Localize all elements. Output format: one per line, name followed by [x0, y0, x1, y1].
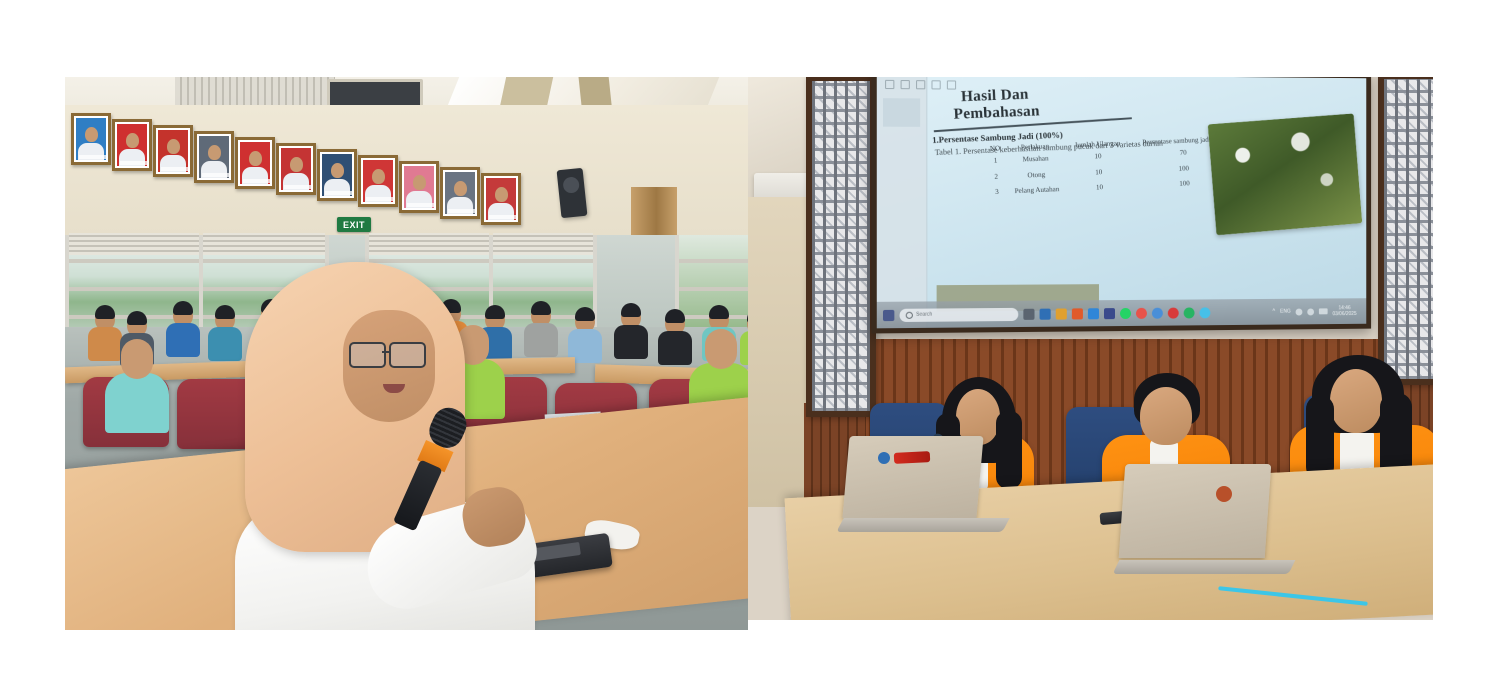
- portrait-nameplate: [79, 155, 107, 159]
- search-placeholder: Search: [916, 312, 932, 318]
- geometric-acoustic-panel: [1378, 77, 1433, 385]
- speaking-lecturer: [235, 252, 535, 630]
- audience-hair: [575, 307, 595, 321]
- portrait-nameplate: [489, 215, 517, 219]
- portrait-head: [208, 145, 221, 160]
- laptop-right[interactable]: [1116, 464, 1286, 574]
- framed-portrait: [440, 167, 480, 219]
- portrait-head: [126, 133, 139, 148]
- portrait-head: [413, 175, 426, 190]
- battery-icon[interactable]: [1319, 308, 1328, 314]
- table-body: 1Musahan10702Otong101003Pelang Autahan10…: [986, 144, 1238, 201]
- face: [1140, 387, 1192, 445]
- laptop-base: [1113, 560, 1296, 574]
- framed-portrait: [481, 173, 521, 225]
- network-icon[interactable]: [1307, 308, 1314, 315]
- framed-portrait: [235, 137, 275, 189]
- taskbar-app-icon[interactable]: [1056, 308, 1067, 319]
- language-indicator[interactable]: ENG: [1280, 309, 1291, 315]
- taskbar-app-icon[interactable]: [1120, 307, 1131, 318]
- taskbar-search-box[interactable]: Search: [900, 307, 1019, 321]
- audience-hair: [665, 309, 685, 323]
- portrait-nameplate: [161, 167, 189, 171]
- portrait-nameplate: [325, 191, 353, 195]
- framed-portrait: [358, 155, 398, 207]
- portrait-nameplate: [366, 197, 394, 201]
- portrait-gallery: [65, 111, 545, 201]
- portrait-photo: [404, 166, 434, 208]
- portrait-photo: [322, 154, 352, 196]
- laptop-left[interactable]: [840, 436, 1000, 532]
- toolbar-icon: [885, 79, 894, 88]
- geometric-acoustic-panel: [806, 77, 876, 417]
- portrait-head: [167, 139, 180, 154]
- taskbar-app-icon[interactable]: [1104, 308, 1115, 319]
- framed-portrait: [153, 125, 193, 177]
- portrait-nameplate: [243, 179, 271, 183]
- table-cell: 3: [988, 184, 1007, 200]
- laptop-lid: [842, 436, 983, 518]
- seminar-room-background: Hasil Dan Pembahasan 1.Persentase Sambun…: [748, 77, 1433, 620]
- photo-student-panel: Hasil Dan Pembahasan 1.Persentase Sambun…: [748, 77, 1433, 620]
- chevron-up-icon[interactable]: ^: [1272, 309, 1275, 315]
- taskbar-app-icon[interactable]: [1136, 307, 1147, 318]
- exit-sign-label: EXIT: [343, 220, 365, 230]
- portrait-photo: [445, 172, 475, 214]
- face: [1330, 369, 1382, 433]
- portrait-photo: [117, 124, 147, 166]
- portrait-nameplate: [407, 203, 435, 207]
- projection-screen: Hasil Dan Pembahasan 1.Persentase Sambun…: [872, 77, 1371, 333]
- portrait-head: [290, 157, 303, 172]
- toolbar-icon: [916, 80, 925, 89]
- portrait-head: [454, 181, 467, 196]
- taskbar-system-tray[interactable]: ^ ENG 14:46 03/06/2025: [1272, 305, 1360, 318]
- wall-speaker: [557, 168, 588, 218]
- portrait-nameplate: [202, 173, 230, 177]
- hair-strand: [1306, 395, 1334, 481]
- audience-body: [658, 331, 692, 365]
- portrait-photo: [240, 142, 270, 184]
- eyeglasses-icon: [349, 342, 429, 364]
- audience-body: [88, 327, 122, 361]
- table-cell: 10: [1068, 179, 1132, 197]
- powerpoint-thumbnail-pane: [877, 77, 928, 328]
- portrait-head: [85, 127, 98, 142]
- clock-date: 03/06/2025: [1332, 311, 1356, 317]
- audience-hair: [173, 301, 193, 315]
- portrait-photo: [76, 118, 106, 160]
- student-face: [705, 329, 737, 369]
- photo-lecture-hall: EXIT: [65, 77, 748, 630]
- slide-content: Hasil Dan Pembahasan 1.Persentase Sambun…: [926, 77, 1367, 303]
- student-face: [121, 339, 153, 379]
- taskbar-app-icon[interactable]: [1152, 307, 1163, 318]
- portrait-head: [495, 187, 508, 202]
- framed-portrait: [317, 149, 357, 201]
- audience-body: [166, 323, 200, 357]
- taskbar-app-icon[interactable]: [1023, 308, 1034, 319]
- audience-hair: [709, 305, 729, 319]
- laptop-lid: [1119, 464, 1272, 558]
- portrait-nameplate: [284, 185, 312, 189]
- circle-sticker: [878, 452, 890, 464]
- toolbar-icon: [931, 80, 940, 89]
- table-cell: 1: [986, 153, 1005, 169]
- exit-sign: EXIT: [337, 217, 371, 232]
- presentation-slide: Hasil Dan Pembahasan 1.Persentase Sambun…: [877, 77, 1366, 328]
- portrait-photo: [363, 160, 393, 202]
- start-icon[interactable]: [883, 309, 894, 320]
- slide-photo-inset: [1208, 113, 1363, 235]
- audience-hair: [215, 305, 235, 319]
- table-cell: 2: [987, 169, 1006, 185]
- search-icon: [947, 80, 956, 89]
- slide-thumbnail: [883, 98, 920, 127]
- search-icon: [906, 311, 913, 318]
- portrait-nameplate: [448, 209, 476, 213]
- cloud-icon[interactable]: [1296, 308, 1303, 315]
- table-cell: Pelang Autahan: [1006, 182, 1068, 200]
- portrait-photo: [486, 178, 516, 220]
- audience-body: [740, 331, 748, 365]
- taskbar-app-icon[interactable]: [1072, 308, 1083, 319]
- framed-portrait: [399, 161, 439, 213]
- taskbar-app-icon[interactable]: [1088, 308, 1099, 319]
- taskbar-app-icon[interactable]: [1184, 307, 1195, 318]
- framed-portrait: [112, 119, 152, 171]
- portrait-head: [372, 169, 385, 184]
- portrait-photo: [199, 136, 229, 178]
- hall-background: EXIT: [65, 77, 748, 630]
- taskbar-app-icon[interactable]: [1199, 307, 1210, 318]
- taskbar-app-icon[interactable]: [1168, 307, 1179, 318]
- framed-portrait: [276, 143, 316, 195]
- taskbar-app-icons[interactable]: [1023, 307, 1210, 320]
- circle-sticker: [1216, 486, 1232, 502]
- nano-sticker: [894, 451, 931, 464]
- student-body: [105, 373, 169, 433]
- audience-body: [614, 325, 648, 359]
- audience-hair: [95, 305, 115, 319]
- audience-hair: [127, 311, 147, 325]
- toolbar-icon: [901, 79, 910, 88]
- portrait-nameplate: [120, 161, 148, 165]
- taskbar-clock[interactable]: 14:46 03/06/2025: [1332, 305, 1356, 317]
- slide-data-table: NOPerlakuanJumlah UlanganPersentase samb…: [986, 135, 1238, 201]
- portrait-photo: [158, 130, 188, 172]
- framed-portrait: [71, 113, 111, 165]
- portrait-head: [331, 163, 344, 178]
- screenshot-canvas: EXIT: [0, 0, 1500, 700]
- audience-hair: [621, 303, 641, 317]
- taskbar-app-icon[interactable]: [1040, 308, 1051, 319]
- portrait-head: [249, 151, 262, 166]
- framed-portrait: [194, 131, 234, 183]
- portrait-photo: [281, 148, 311, 190]
- windows-taskbar: Search ^ ENG 14:46 03/06/2025: [877, 298, 1366, 328]
- laptop-base: [836, 518, 1009, 532]
